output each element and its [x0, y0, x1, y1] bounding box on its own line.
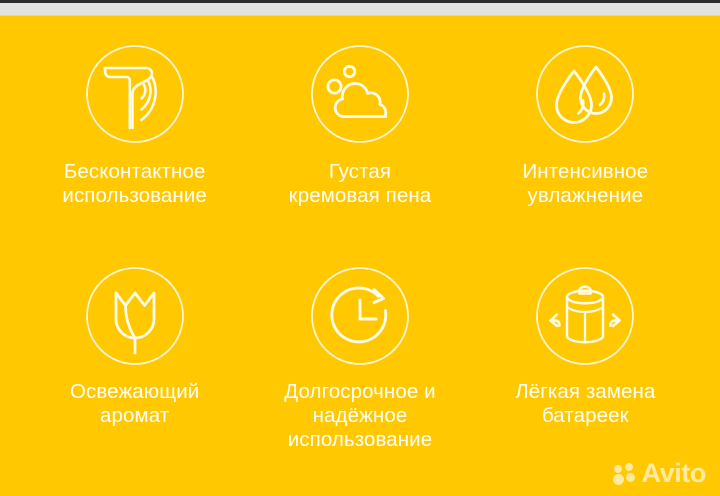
- feature-label: Освежающий аромат: [70, 380, 199, 428]
- feature-card-durability: Долгосрочное и надёжное использование: [247, 264, 472, 486]
- yellow-banner: Бесконтактное использование Густая кремо…: [0, 16, 720, 496]
- water-droplets-icon: [533, 42, 637, 146]
- battery-replace-icon: [533, 264, 637, 368]
- feature-card-battery: Лёгкая замена батареек: [473, 264, 698, 486]
- feature-card-moisturizing: Интенсивное увлажнение: [473, 42, 698, 264]
- clock-refresh-icon: [308, 264, 412, 368]
- foam-bubbles-icon: [308, 42, 412, 146]
- feature-label: Долгосрочное и надёжное использование: [284, 380, 435, 453]
- feature-label: Интенсивное увлажнение: [522, 160, 648, 208]
- feature-label: Густая кремовая пена: [289, 160, 432, 208]
- feature-card-foam: Густая кремовая пена: [247, 42, 472, 264]
- feature-card-fragrance: Освежающий аромат: [22, 264, 247, 486]
- feature-grid: Бесконтактное использование Густая кремо…: [0, 16, 720, 496]
- tulip-flower-icon: [83, 264, 187, 368]
- feature-label: Лёгкая замена батареек: [515, 380, 655, 428]
- contactless-sensor-icon: [83, 42, 187, 146]
- feature-label: Бесконтактное использование: [62, 160, 207, 208]
- feature-card-contactless: Бесконтактное использование: [22, 42, 247, 264]
- browser-chrome-strip: [0, 3, 720, 16]
- feature-banner-screenshot: Бесконтактное использование Густая кремо…: [0, 0, 720, 496]
